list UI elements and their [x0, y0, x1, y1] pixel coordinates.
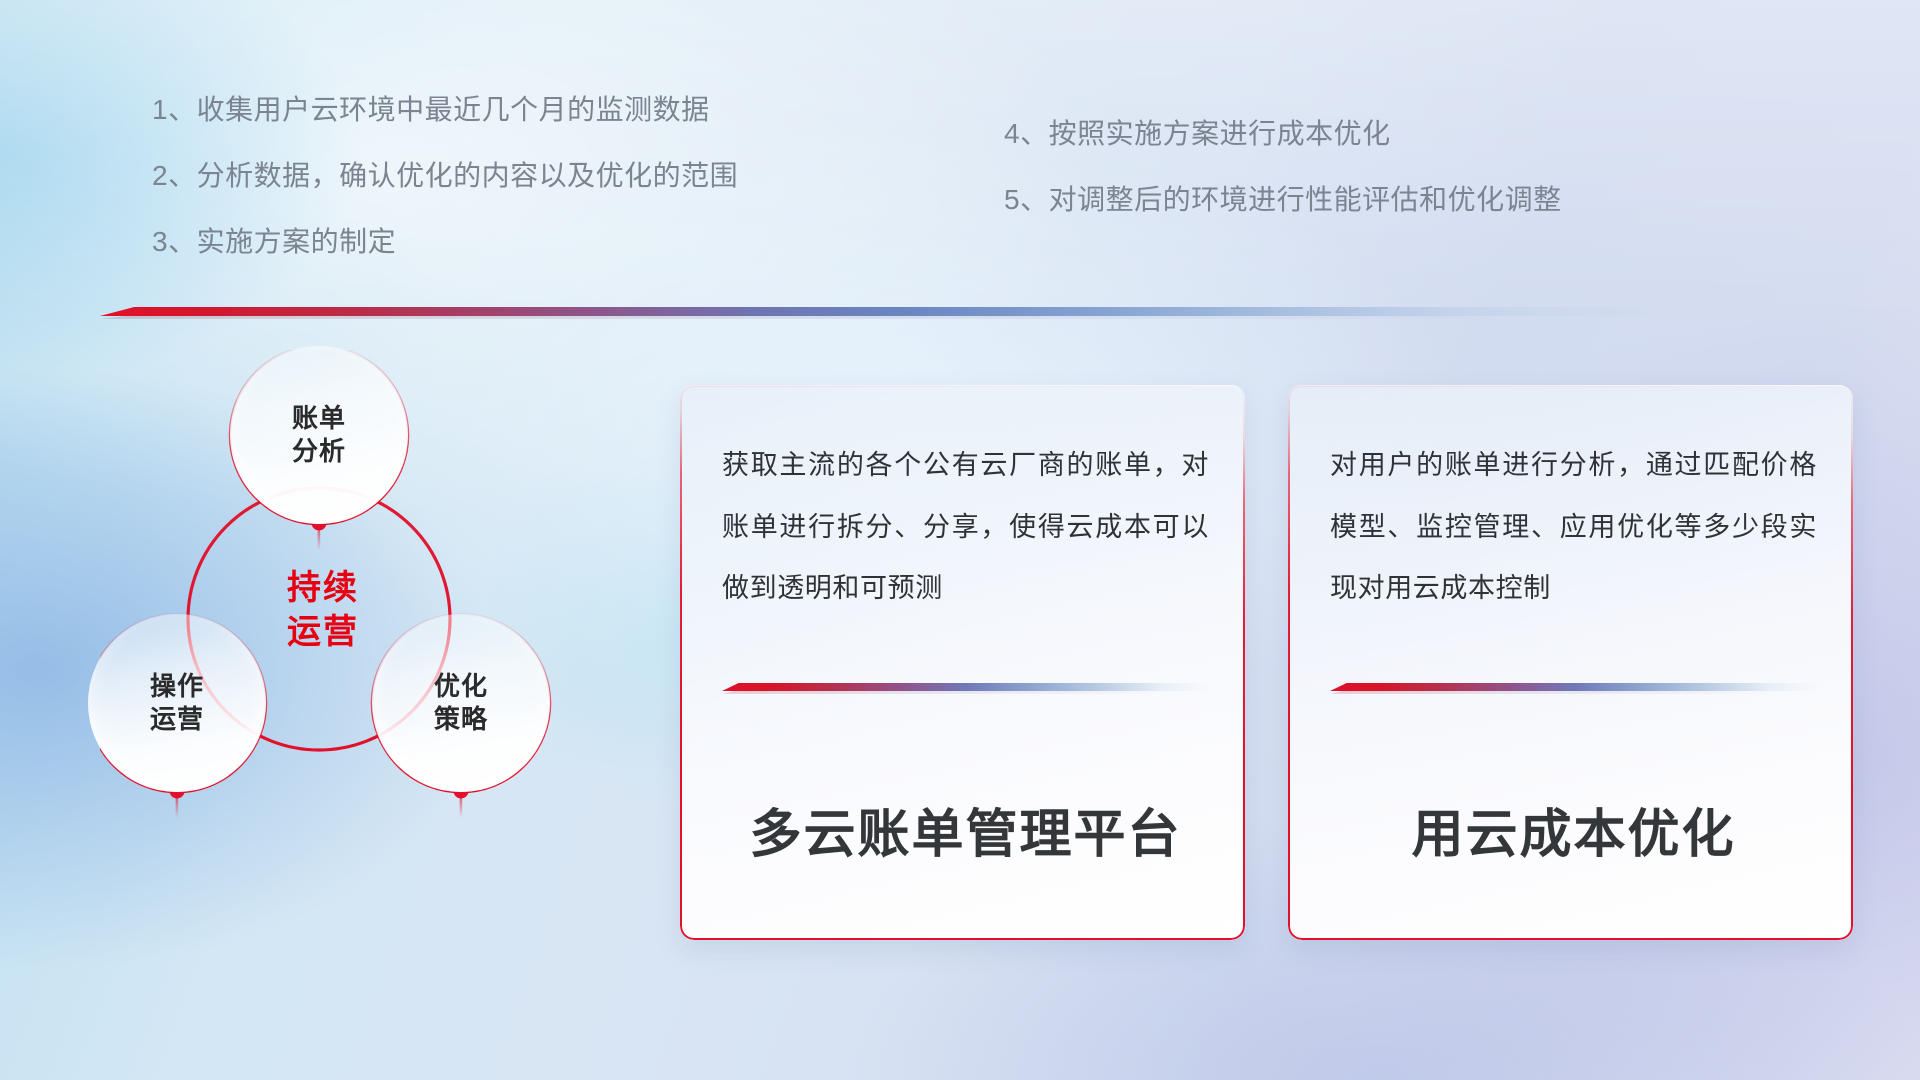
step-item-5: 5、对调整后的环境进行性能评估和优化调整 [1004, 186, 1562, 214]
node-label-top-line1: 账单 [292, 402, 346, 435]
node-label-top-line2: 分析 [292, 435, 346, 468]
node-label-left-line2: 运营 [150, 703, 204, 736]
center-label-line2: 运营 [228, 610, 418, 654]
center-label-line1: 持续 [228, 566, 418, 610]
steps-right-column: 4、按照实施方案进行成本优化 5、对调整后的环境进行性能评估和优化调整 [1004, 120, 1562, 252]
card-multicloud-billing-platform[interactable]: 获取主流的各个公有云厂商的账单，对账单进行拆分、分享，使得云成本可以做到透明和可… [680, 385, 1245, 940]
card-2-title: 用云成本优化 [1330, 806, 1817, 866]
step-item-4: 4、按照实施方案进行成本优化 [1004, 120, 1562, 148]
steps-left-column: 1、收集用户云环境中最近几个月的监测数据 2、分析数据，确认优化的内容以及优化的… [152, 96, 738, 294]
continuous-operation-diagram: 账单 分析 操作 运营 优化 策略 持续 运营 [100, 350, 660, 950]
card-2-body: 对用户的账单进行分析，通过匹配价格模型、监控管理、应用优化等多少段实现对用云成本… [1330, 435, 1817, 620]
card-cloud-cost-optimization[interactable]: 对用户的账单进行分析，通过匹配价格模型、监控管理、应用优化等多少段实现对用云成本… [1288, 385, 1853, 940]
step-item-3: 3、实施方案的制定 [152, 228, 738, 256]
card-1-title: 多云账单管理平台 [722, 806, 1209, 866]
card-2-divider [1330, 683, 1819, 694]
node-label-right-line1: 优化 [434, 670, 488, 703]
step-item-1: 1、收集用户云环境中最近几个月的监测数据 [152, 96, 738, 124]
node-label-left-line1: 操作 [150, 670, 204, 703]
section-divider-bar [100, 307, 1660, 316]
diagram-node-billing-analysis[interactable]: 账单 分析 [230, 346, 408, 524]
card-1-divider-bar [722, 683, 1211, 691]
section-divider [100, 305, 1660, 319]
card-2-divider-bar [1330, 683, 1819, 691]
card-1-body: 获取主流的各个公有云厂商的账单，对账单进行拆分、分享，使得云成本可以做到透明和可… [722, 435, 1209, 620]
step-item-2: 2、分析数据，确认优化的内容以及优化的范围 [152, 162, 738, 190]
diagram-center-label: 持续 运营 [228, 566, 418, 654]
card-1-divider [722, 683, 1211, 694]
node-label-right-line2: 策略 [434, 703, 488, 736]
